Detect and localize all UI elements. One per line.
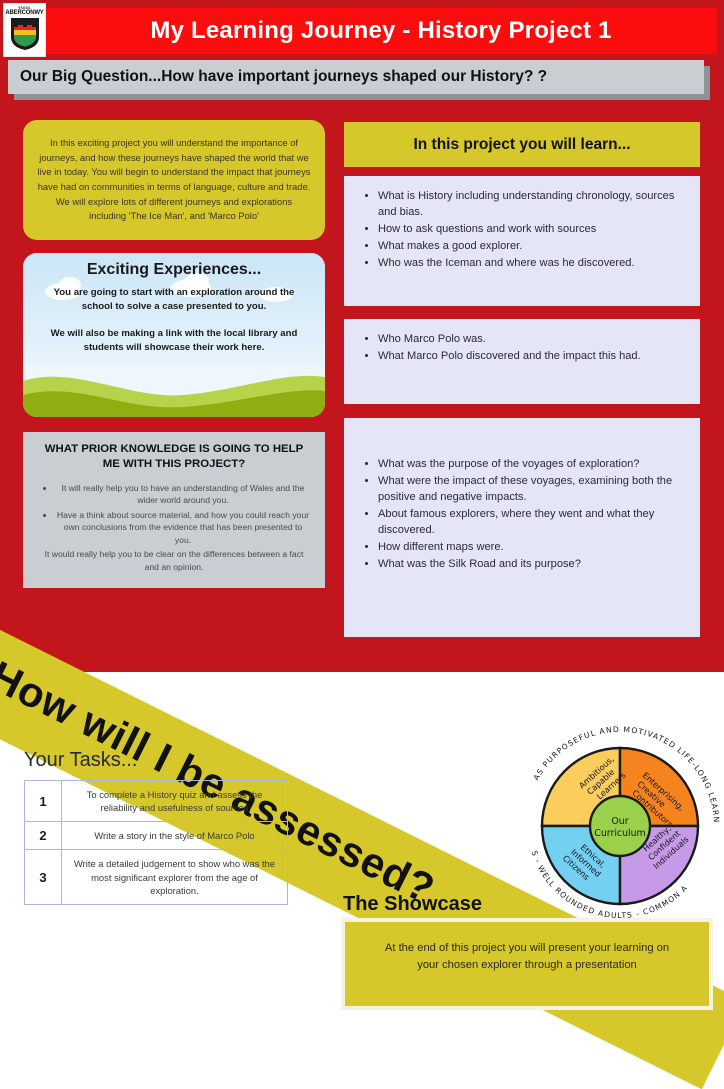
- school-logo: YSGOL ABERCONWY: [3, 3, 46, 57]
- learn-box-group-1: What is History including understanding …: [344, 176, 700, 306]
- shield-crest-icon: [10, 17, 40, 51]
- experiences-title: Exciting Experiences...: [39, 261, 309, 279]
- list-item: How different maps were.: [378, 539, 686, 555]
- task-number: 2: [25, 822, 62, 850]
- list-item: What makes a good explorer.: [378, 238, 686, 254]
- showcase-title: The Showcase: [343, 893, 482, 916]
- task-number: 3: [25, 850, 62, 904]
- big-question-bar: Our Big Question...How have important jo…: [8, 60, 704, 94]
- task-description: To complete a History quiz and assess th…: [62, 781, 288, 822]
- learn-box-group-3: What was the purpose of the voyages of e…: [344, 418, 700, 637]
- list-item: How to ask questions and work with sourc…: [378, 221, 686, 237]
- exciting-experiences-box: Exciting Experiences... You are going to…: [23, 253, 325, 417]
- list-item: What was the purpose of the voyages of e…: [378, 456, 686, 472]
- experiences-content: Exciting Experiences... You are going to…: [23, 253, 325, 355]
- experiences-paragraph-2: We will also be making a link with the l…: [39, 327, 309, 355]
- prior-knowledge-tail: It would really help you to be clear on …: [37, 548, 311, 573]
- learn-list-2: Who Marco Polo was. What Marco Polo disc…: [358, 331, 686, 364]
- list-item: Who Marco Polo was.: [378, 331, 686, 347]
- prior-knowledge-list: It will really help you to have an under…: [37, 482, 311, 546]
- list-item: It will really help you to have an under…: [55, 482, 311, 507]
- list-item: What is History including understanding …: [378, 188, 686, 220]
- task-description: Write a detailed judgement to show who w…: [62, 850, 288, 904]
- big-question-text: Our Big Question...How have important jo…: [8, 68, 547, 86]
- learn-header-text: In this project you will learn...: [413, 136, 630, 154]
- learn-list-3: What was the purpose of the voyages of e…: [358, 456, 686, 573]
- project-intro-box: In this exciting project you will unders…: [23, 120, 325, 240]
- rolling-hills-graphic: [23, 355, 325, 417]
- wheel-center-label-line1: Our: [611, 816, 628, 827]
- list-item: Have a think about source material, and …: [55, 509, 311, 546]
- learn-box-group-2: Who Marco Polo was. What Marco Polo disc…: [344, 319, 700, 404]
- prior-knowledge-title: WHAT PRIOR KNOWLEDGE IS GOING TO HELP ME…: [37, 442, 311, 473]
- page-header: My Learning Journey - History Project 1: [45, 8, 717, 54]
- table-row: 1 To complete a History quiz and assess …: [25, 781, 288, 822]
- experiences-paragraph-1: You are going to start with an explorati…: [39, 286, 309, 314]
- wheel-center-label-line2: Curriculum: [594, 828, 645, 839]
- list-item: About famous explorers, where they went …: [378, 506, 686, 538]
- list-item: What Marco Polo discovered and the impac…: [378, 348, 686, 364]
- tasks-table: 1 To complete a History quiz and assess …: [24, 780, 288, 905]
- task-number: 1: [25, 781, 62, 822]
- showcase-box: At the end of this project you will pres…: [341, 918, 713, 1010]
- list-item: What were the impact of these voyages, e…: [378, 473, 686, 505]
- table-row: 2 Write a story in the style of Marco Po…: [25, 822, 288, 850]
- list-item: What was the Silk Road and its purpose?: [378, 556, 686, 572]
- table-row: 3 Write a detailed judgement to show who…: [25, 850, 288, 904]
- tasks-title: Your Tasks...: [24, 749, 137, 772]
- prior-knowledge-box: WHAT PRIOR KNOWLEDGE IS GOING TO HELP ME…: [23, 432, 325, 588]
- task-description: Write a story in the style of Marco Polo: [62, 822, 288, 850]
- learn-list-1: What is History including understanding …: [358, 188, 686, 271]
- page-title: My Learning Journey - History Project 1: [150, 17, 611, 45]
- project-intro-text: In this exciting project you will unders…: [37, 136, 311, 223]
- list-item: Who was the Iceman and where was he disc…: [378, 255, 686, 271]
- showcase-text: At the end of this project you will pres…: [377, 940, 677, 974]
- logo-line-2: ABERCONWY: [5, 10, 43, 16]
- curriculum-wheel-diagram: Ambitious,CapableLearners Enterprising,C…: [520, 726, 720, 926]
- learn-header-banner: In this project you will learn...: [344, 122, 700, 167]
